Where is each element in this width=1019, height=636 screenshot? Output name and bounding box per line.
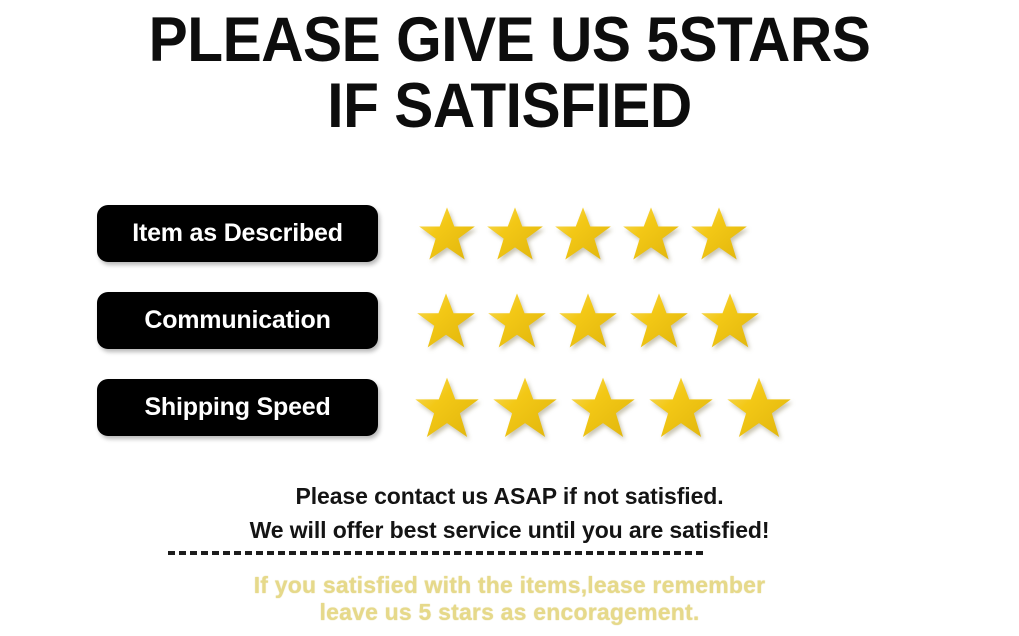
- star-icon[interactable]: [558, 291, 618, 351]
- contact-notes: Please contact us ASAP if not satisfied.…: [0, 479, 1019, 547]
- star-rating-communication[interactable]: [416, 292, 771, 349]
- pill-label-text: Item as Described: [132, 219, 343, 248]
- rating-row-item-as-described: Item as Described: [0, 205, 1019, 262]
- star-icon[interactable]: [416, 291, 476, 351]
- page-title: PLEASE GIVE US 5STARS IF SATISFIED: [36, 8, 984, 139]
- label-pill-communication: Communication: [97, 292, 378, 349]
- star-icon[interactable]: [418, 205, 476, 263]
- rating-row-shipping-speed: Shipping Speed: [0, 379, 1019, 436]
- label-pill-item-as-described: Item as Described: [97, 205, 378, 262]
- note-line-2: We will offer best service until you are…: [0, 513, 1019, 547]
- dashed-divider: [168, 551, 706, 555]
- rating-row-communication: Communication: [0, 292, 1019, 349]
- star-icon[interactable]: [570, 375, 636, 441]
- star-icon[interactable]: [487, 291, 547, 351]
- note-line-1: Please contact us ASAP if not satisfied.: [0, 479, 1019, 513]
- headline-line-1: PLEASE GIVE US 5STARS: [36, 8, 984, 72]
- star-rating-item-as-described[interactable]: [418, 205, 758, 262]
- star-icon[interactable]: [700, 291, 760, 351]
- feedback-rating-banner: PLEASE GIVE US 5STARS IF SATISFIED Item …: [0, 0, 1019, 636]
- star-icon[interactable]: [554, 205, 612, 263]
- label-pill-shipping-speed: Shipping Speed: [97, 379, 378, 436]
- star-icon[interactable]: [414, 375, 480, 441]
- rating-rows: Item as Described: [0, 205, 1019, 466]
- star-icon[interactable]: [486, 205, 544, 263]
- encouragement-line-2: leave us 5 stars as encoragement.: [0, 599, 1019, 626]
- pill-label-text: Shipping Speed: [144, 393, 330, 422]
- headline-line-2: IF SATISFIED: [36, 74, 984, 138]
- star-icon[interactable]: [622, 205, 680, 263]
- encouragement-note: If you satisfied with the items,lease re…: [0, 572, 1019, 626]
- star-icon[interactable]: [690, 205, 748, 263]
- pill-label-text: Communication: [144, 306, 330, 335]
- star-icon[interactable]: [726, 375, 792, 441]
- star-icon[interactable]: [492, 375, 558, 441]
- encouragement-line-1: If you satisfied with the items,lease re…: [0, 572, 1019, 599]
- star-icon[interactable]: [648, 375, 714, 441]
- star-rating-shipping-speed[interactable]: [414, 379, 804, 436]
- star-icon[interactable]: [629, 291, 689, 351]
